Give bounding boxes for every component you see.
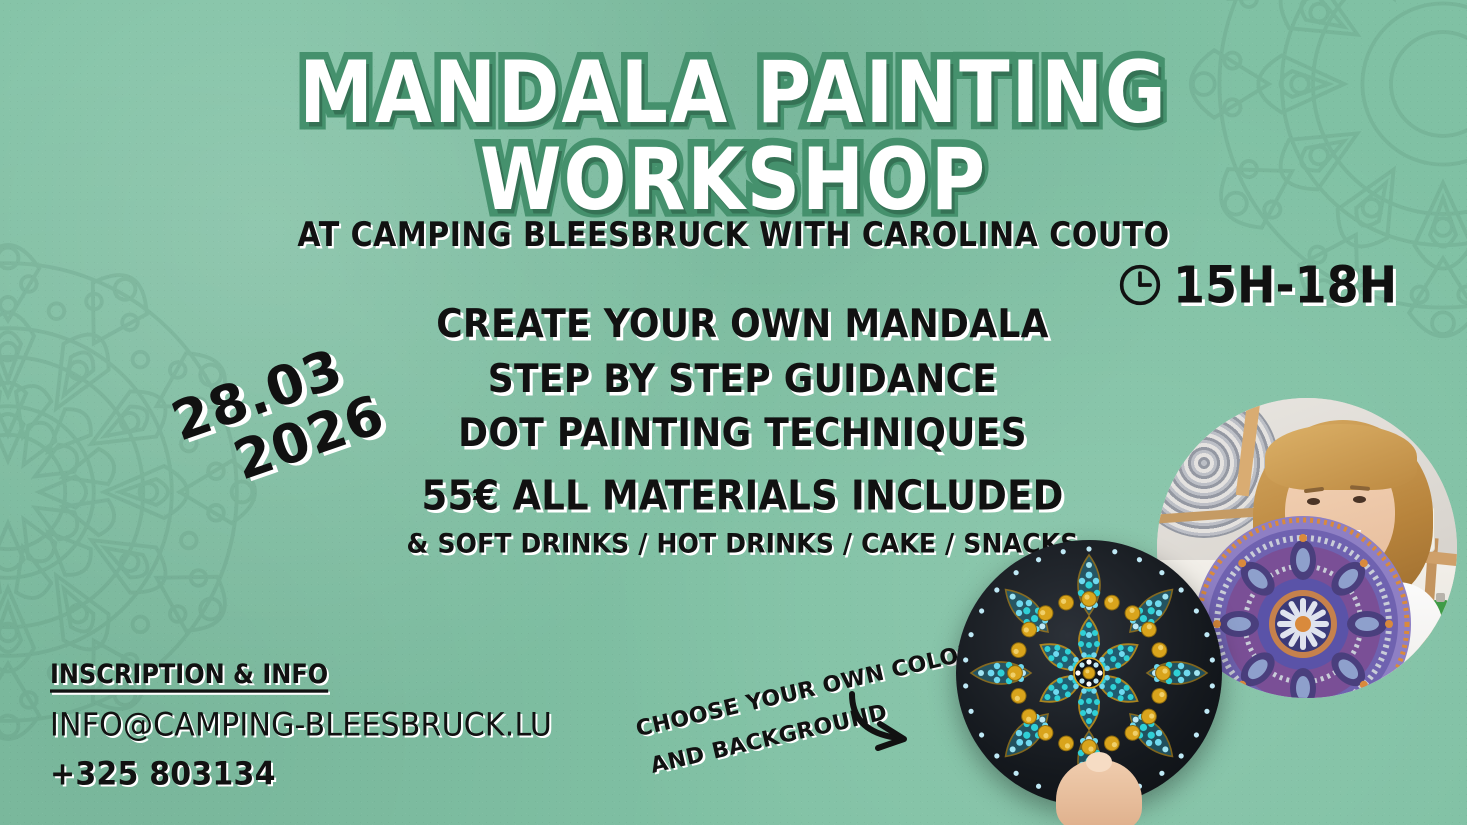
- hand-holding-disc: [1056, 760, 1142, 825]
- poster-canvas: MANDALA PAINTING WORKSHOP AT CAMPING BLE…: [0, 0, 1467, 825]
- photo-eye: [1353, 496, 1366, 503]
- photo-eye: [1307, 498, 1320, 505]
- contact-email[interactable]: INFO@CAMPING-BLEESBRUCK.LU: [50, 707, 552, 744]
- photo-hair-front: [1265, 424, 1417, 490]
- contact-block: INSCRIPTION & INFO INFO@CAMPING-BLEESBRU…: [50, 660, 552, 792]
- contact-phone[interactable]: +325 803134: [50, 756, 552, 793]
- contact-heading: INSCRIPTION & INFO: [50, 659, 552, 690]
- feature-item: CREATE YOUR OWN MANDALA: [0, 295, 1467, 355]
- photo-purple-mandala: [1193, 514, 1457, 698]
- poster-title: MANDALA PAINTING WORKSHOP: [0, 58, 1467, 216]
- poster-subtitle: AT CAMPING BLEESBRUCK WITH CAROLINA COUT…: [0, 216, 1467, 255]
- curved-arrow-icon: [846, 686, 926, 758]
- title-line-1: MANDALA PAINTING: [0, 52, 1467, 134]
- title-line-2: WORKSHOP: [0, 140, 1467, 222]
